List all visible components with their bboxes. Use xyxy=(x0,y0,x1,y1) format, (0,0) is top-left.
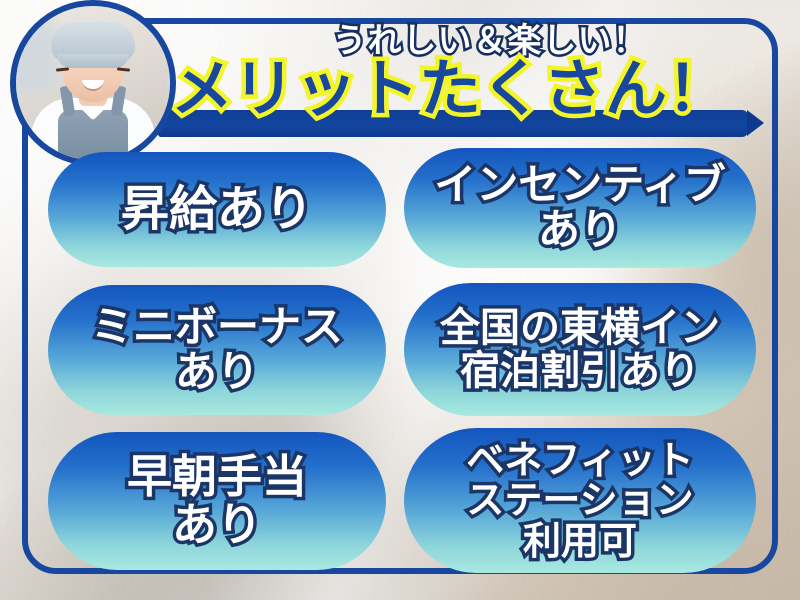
poster-root: うれしい＆楽しい！ メリットたくさん！ 昇給あり インセンティブあり xyxy=(0,0,800,600)
benefit-pill-label: 昇給あり xyxy=(111,184,323,235)
benefit-pill-label: ミニボーナスあり xyxy=(81,305,353,394)
benefit-pill-hotel-discount: 全国の東横イン宿泊割引あり xyxy=(404,283,756,416)
benefit-pill-incentive: インセンティブあり xyxy=(404,148,756,268)
benefit-pill-label: 早朝手当あり xyxy=(117,453,317,548)
benefit-pill-label: ベネフィットステーション利用可 xyxy=(456,440,703,561)
benefit-pill-benefit-station: ベネフィットステーション利用可 xyxy=(404,428,756,573)
benefit-pill-mini-bonus: ミニボーナスあり xyxy=(48,285,386,415)
benefit-pill-early-allowance: 早朝手当あり xyxy=(48,432,386,570)
benefit-pill-label: 全国の東横イン宿泊割引あり xyxy=(430,307,730,392)
benefit-pill-label: インセンティブあり xyxy=(424,163,735,252)
benefits-grid: 昇給あり インセンティブあり ミニボーナスあり 全国の東横イン宿泊割引あり 早朝… xyxy=(0,0,800,600)
benefit-pill-pay-raise: 昇給あり xyxy=(48,152,386,267)
